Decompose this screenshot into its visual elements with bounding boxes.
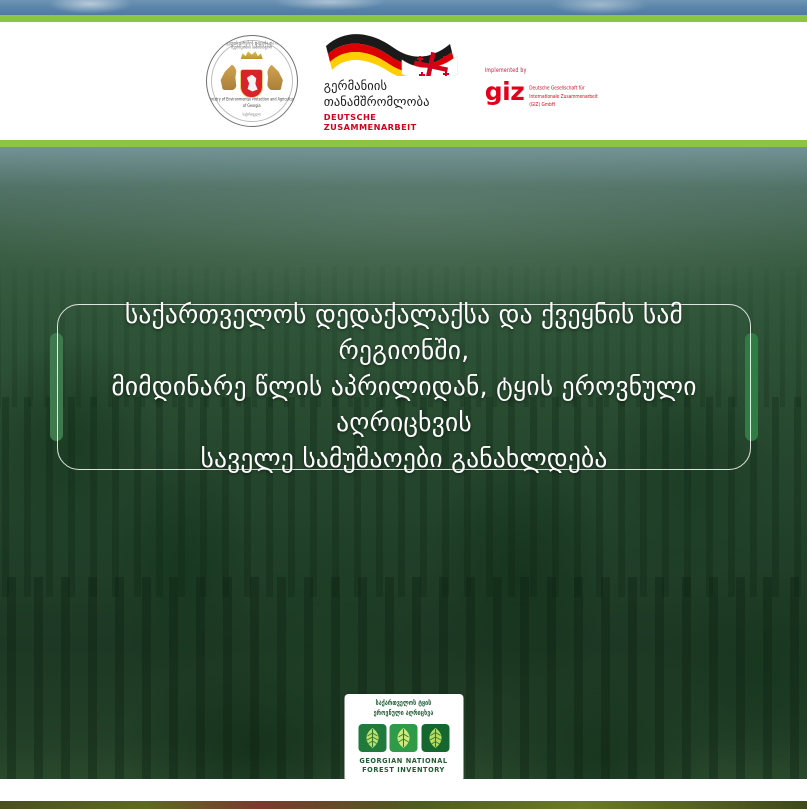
gnfi-title-en: GEORGIAN NATIONAL FOREST INVENTORY bbox=[359, 757, 447, 776]
german-georgian-flag-icon bbox=[324, 30, 459, 76]
poster-canvas: საქართველოს გარემოს დაცვისა და სოფლის მე… bbox=[0, 0, 807, 809]
ministry-of-environment-emblem: საქართველოს გარემოს დაცვისა და სოფლის მე… bbox=[206, 35, 298, 127]
leaf-icon-3 bbox=[421, 724, 449, 752]
top-photo-strip bbox=[0, 0, 807, 15]
emblem-ring-text-ka: საქართველოს გარემოს დაცვისა და სოფლის მე… bbox=[207, 42, 297, 51]
giz-wordmark: giz bbox=[485, 81, 525, 102]
headline-text: საქართველოს დედაქალაქსა და ქვეყნის სამ რ… bbox=[92, 297, 716, 478]
deutsche-zusammenarbeit-logo: გერმანიის თანამშრომლობა DEUTSCHE ZUSAMME… bbox=[324, 30, 459, 132]
deutsche-title-de: DEUTSCHE ZUSAMMENARBEIT bbox=[324, 112, 459, 132]
giz-tagline: Deutsche Gesellschaft für Internationale… bbox=[529, 81, 601, 110]
headline-card: საქართველოს დედაქალაქსა და ქვეყნის სამ რ… bbox=[57, 304, 751, 470]
giz-implemented-by-label: Implemented by bbox=[485, 68, 602, 74]
forest-background-photo: საქართველოს დედაქალაქსა და ქვეყნის სამ რ… bbox=[0, 147, 807, 787]
giz-logo: Implemented by giz Deutsche Gesellschaft… bbox=[485, 68, 602, 105]
gnfi-leaf-row bbox=[358, 724, 449, 752]
emblem-subtitle-ka: საქართველო bbox=[207, 111, 297, 116]
coat-of-arms-shield-icon bbox=[240, 69, 263, 98]
deutsche-title-ka: გერმანიის თანამშრომლობა bbox=[324, 78, 459, 109]
gnfi-logo-badge: საქართველოს ტყის ეროვნული აღრიცხვა bbox=[344, 694, 463, 782]
header-green-divider bbox=[0, 140, 807, 147]
st-george-rider-icon bbox=[245, 75, 258, 92]
emblem-name-en: Ministry of Environmental Protection and… bbox=[207, 96, 297, 108]
top-green-divider bbox=[0, 15, 807, 22]
leaf-icon-2 bbox=[390, 724, 418, 752]
logo-header: საქართველოს გარემოს დაცვისა და სოფლის მე… bbox=[0, 22, 807, 140]
bottom-white-band bbox=[0, 779, 807, 801]
leaf-icon-1 bbox=[358, 724, 386, 752]
gnfi-title-ka: საქართველოს ტყის ეროვნული აღრიცხვა bbox=[374, 700, 434, 720]
bottom-photo-strip bbox=[0, 801, 807, 809]
